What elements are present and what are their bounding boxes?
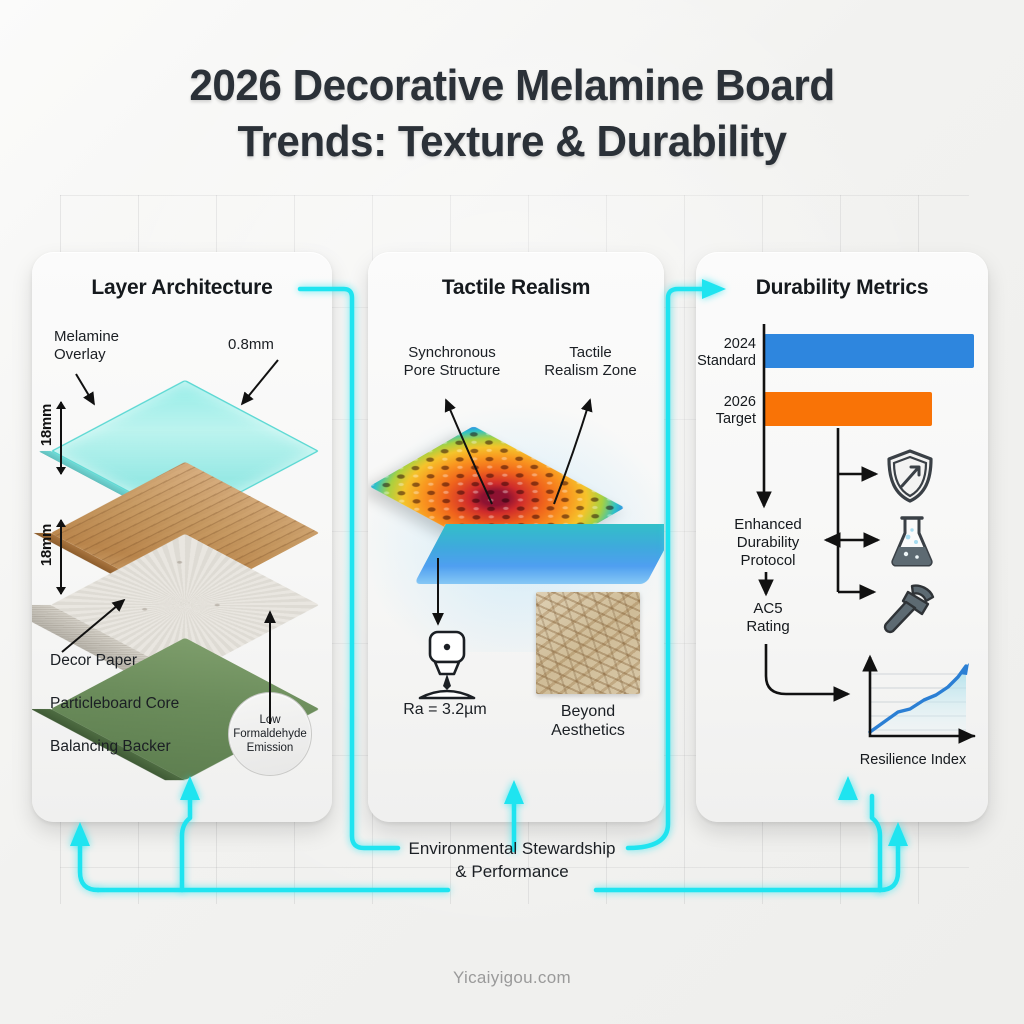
flow-ac5-rating: AC5 Rating xyxy=(720,600,816,636)
flow-enhanced-durability-protocol: Enhanced Durability Protocol xyxy=(714,516,822,570)
callout-beyond-aesthetics: Beyond Aesthetics xyxy=(520,702,656,740)
page-title-line-1: 2026 Decorative Melamine Board xyxy=(20,58,1003,114)
panel-layer-architecture[interactable]: Layer Architecture 18mm 18mm Melamine Ov… xyxy=(32,252,332,822)
bar-label-2024: 2024 Standard xyxy=(696,336,756,370)
dimension-label-top: 18mm xyxy=(38,404,55,446)
surface-probe-icon xyxy=(404,630,494,702)
dimension-label-bottom: 18mm xyxy=(38,524,55,566)
bar-2026-target xyxy=(764,392,932,426)
callout-tactile-zone: Tactile Realism Zone xyxy=(528,344,653,381)
badge-low-formaldehyde: Low Formaldehyde Emission xyxy=(228,692,312,776)
chemical-flask-icon xyxy=(888,514,936,568)
bar-2024-standard xyxy=(764,334,974,368)
panel-title-layer-architecture: Layer Architecture xyxy=(32,276,332,300)
footer-caption-line-1: Environmental Stewardship xyxy=(0,838,1024,861)
resilience-index-chart xyxy=(854,652,980,750)
arrow-ac5-to-chart xyxy=(766,644,848,694)
dimension-bar-top xyxy=(60,402,62,474)
page-title-line-2: Trends: Texture & Durability xyxy=(20,114,1003,170)
bar-label-2024-text: 2024 Standard xyxy=(697,336,756,369)
panel-durability-metrics[interactable]: Durability Metrics 2024 Standard 2026 Ta… xyxy=(696,252,988,822)
badge-low-formaldehyde-label: Low Formaldehyde Emission xyxy=(233,713,307,755)
panel-title-tactile-realism: Tactile Realism xyxy=(368,276,664,300)
shield-scratch-icon xyxy=(884,448,936,504)
callout-decor-paper: Decor Paper xyxy=(50,652,137,671)
osb-texture-swatch xyxy=(536,592,640,694)
panel-tactile-realism[interactable]: Tactile Realism Synchronous Pore Structu… xyxy=(368,252,664,822)
callout-balancing-backer: Balancing Backer xyxy=(50,738,171,757)
callout-particleboard-core: Particleboard Core xyxy=(50,695,179,714)
callout-overlay-thickness: 0.8mm xyxy=(228,336,274,354)
pore-surface-side xyxy=(414,524,664,584)
callout-pore-structure: Synchronous Pore Structure xyxy=(382,344,522,381)
page-title: 2026 Decorative Melamine Board Trends: T… xyxy=(20,58,1003,171)
footer-caption-line-2: & Performance xyxy=(0,861,1024,884)
watermark: Yicaiyigou.com xyxy=(0,968,1024,988)
bar-label-2026-text: 2026 Target xyxy=(716,394,756,427)
dimension-bar-bottom xyxy=(60,520,62,594)
panel-title-durability-metrics: Durability Metrics xyxy=(696,276,988,300)
footer-caption: Environmental Stewardship & Performance xyxy=(0,838,1024,884)
label-resilience-index: Resilience Index xyxy=(838,752,988,769)
callout-melamine-overlay: Melamine Overlay xyxy=(54,328,119,364)
bar-label-2026: 2026 Target xyxy=(696,394,756,428)
hammer-impact-icon xyxy=(882,582,938,636)
callout-roughness-value: Ra = 3.2µm xyxy=(380,700,510,719)
